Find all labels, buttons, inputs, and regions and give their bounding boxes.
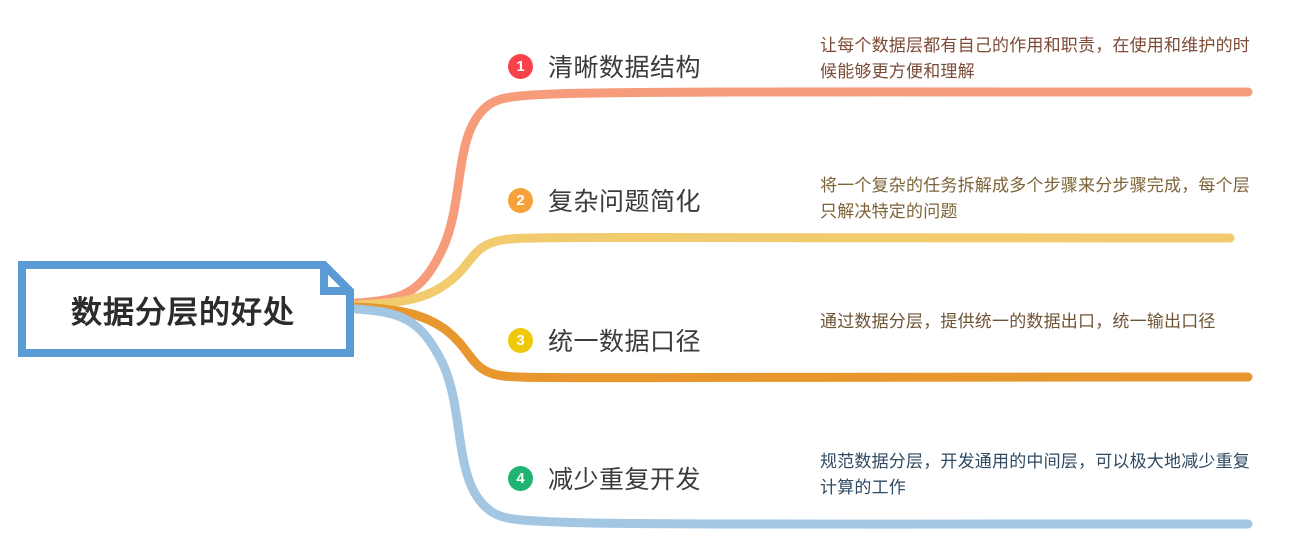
branch-4-title: 减少重复开发 — [548, 460, 701, 496]
branch-1-title: 清晰数据结构 — [548, 48, 701, 84]
center-node-label: 数据分层的好处 — [18, 261, 354, 357]
branch-3-number-badge: 3 — [508, 328, 533, 353]
branch-line-2 — [356, 238, 1230, 306]
branch-2-title: 复杂问题简化 — [548, 182, 701, 218]
branch-4-description: 规范数据分层，开发通用的中间层，可以极大地减少重复计算的工作 — [820, 449, 1255, 502]
branch-4-head[interactable]: 4 减少重复开发 — [508, 460, 701, 496]
branch-3-head[interactable]: 3 统一数据口径 — [508, 322, 701, 358]
center-node[interactable]: 数据分层的好处 — [18, 261, 354, 357]
branch-4-number-badge: 4 — [508, 466, 533, 491]
branch-1-head[interactable]: 1 清晰数据结构 — [508, 48, 701, 84]
branch-1-description: 让每个数据层都有自己的作用和职责，在使用和维护的时候能够更方便和理解 — [820, 33, 1255, 86]
branch-2-number-badge: 2 — [508, 188, 533, 213]
branch-2-head[interactable]: 2 复杂问题简化 — [508, 182, 701, 218]
branch-3-description: 通过数据分层，提供统一的数据出口，统一输出口径 — [820, 309, 1255, 335]
branch-2-description: 将一个复杂的任务拆解成多个步骤来分步骤完成，每个层只解决特定的问题 — [820, 173, 1255, 226]
branch-3-title: 统一数据口径 — [548, 322, 701, 358]
mindmap-canvas: 数据分层的好处 1 清晰数据结构 让每个数据层都有自己的作用和职责，在使用和维护… — [0, 0, 1295, 551]
branch-1-number-badge: 1 — [508, 54, 533, 79]
